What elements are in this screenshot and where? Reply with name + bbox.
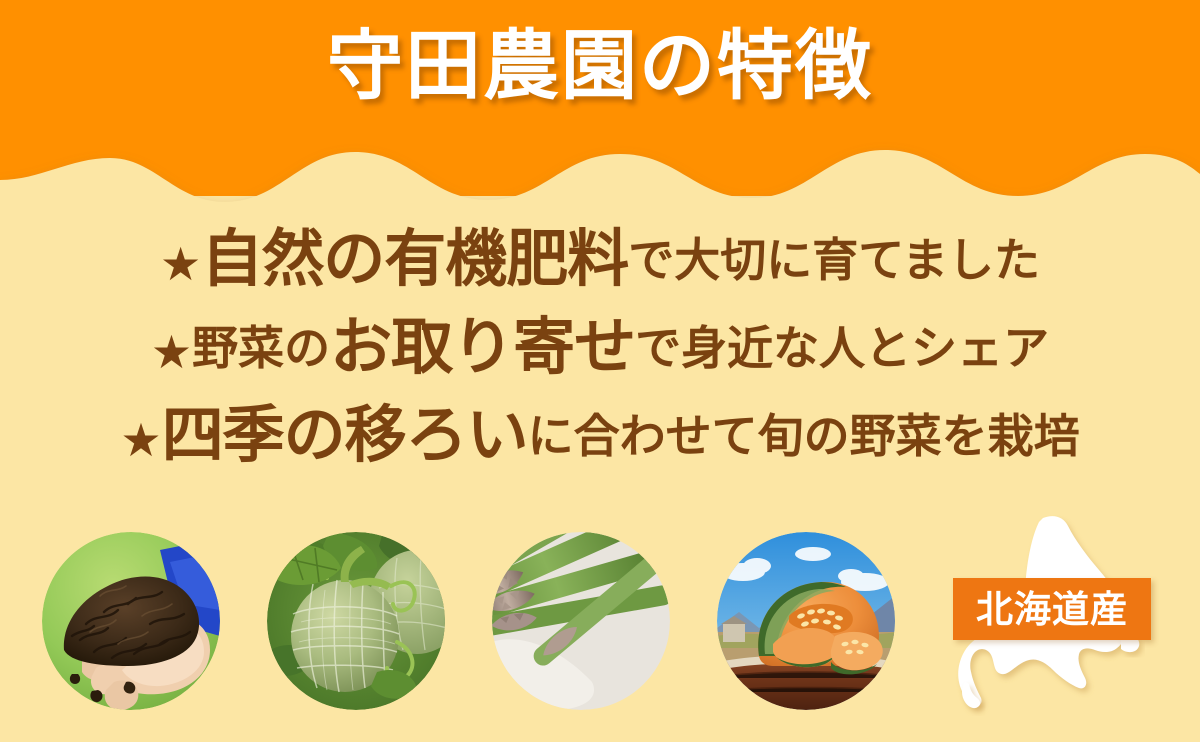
star-icon: ★ [160, 237, 201, 291]
feature-list: ★自然の有機肥料で大切に育てました ★野菜のお取り寄せで身近な人とシェア ★四季… [0, 228, 1200, 466]
origin-badge-group: 北海道産 [935, 512, 1175, 727]
photo-cut-orange-melon [717, 532, 895, 710]
feature-1-emphasis: 自然の有機肥料 [201, 222, 628, 295]
feature-2-lead: 野菜の [192, 321, 330, 375]
photo-compost-soil-in-hands [42, 532, 220, 710]
promo-poster: 守田農園の特徴 ★自然の有機肥料で大切に育てました ★野菜のお取り寄せで身近な人… [0, 0, 1200, 742]
photo-strip [42, 532, 922, 710]
page-title: 守田農園の特徴 [0, 26, 1200, 107]
star-icon: ★ [151, 325, 192, 379]
feature-2-emphasis: お取り寄せ [330, 310, 635, 383]
photo-asparagus-spears [492, 532, 670, 710]
feature-line-2: ★野菜のお取り寄せで身近な人とシェア [0, 316, 1200, 378]
origin-badge: 北海道産 [953, 578, 1151, 640]
feature-3-emphasis: 四季の移ろい [162, 398, 528, 471]
feature-3-rest: に合わせて旬の野菜を栽培 [528, 409, 1080, 463]
feature-1-rest: で大切に育てました [628, 233, 1040, 287]
feature-2-rest: で身近な人とシェア [635, 321, 1049, 375]
feature-line-1: ★自然の有機肥料で大切に育てました [0, 228, 1200, 290]
origin-badge-label: 北海道産 [976, 591, 1128, 628]
feature-line-3: ★四季の移ろいに合わせて旬の野菜を栽培 [0, 404, 1200, 466]
photo-green-melon-on-vine [267, 532, 445, 710]
star-icon: ★ [120, 413, 161, 467]
